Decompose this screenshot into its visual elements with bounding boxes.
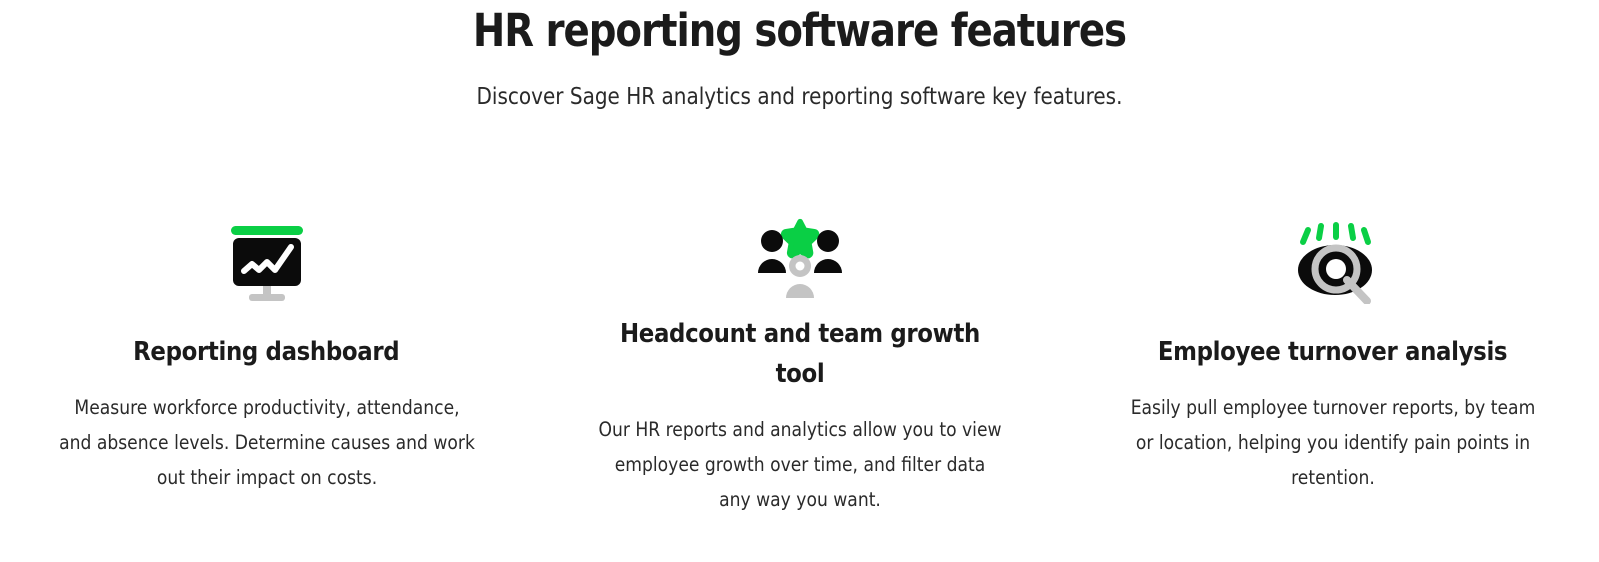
feature-card-employee-turnover-analysis: Employee turnover analysis Easily pull e…: [1066, 208, 1599, 495]
feature-icon-wrapper: [223, 208, 311, 304]
hr-reporting-features-section: HR reporting software features Discover …: [0, 0, 1599, 562]
feature-title: Reporting dashboard: [133, 332, 399, 372]
page-subtitle: Discover Sage HR analytics and reporting…: [104, 60, 1495, 112]
feature-title: Headcount and team growth tool: [606, 314, 993, 394]
section-header: HR reporting software features Discover …: [0, 0, 1599, 112]
feature-title: Employee turnover analysis: [1158, 332, 1507, 372]
feature-card-headcount-team-growth: Headcount and team growth tool Our HR re…: [533, 208, 1066, 517]
team-star-icon: [753, 210, 847, 302]
feature-icon-wrapper: [1285, 208, 1381, 304]
presentation-chart-icon: [223, 224, 311, 304]
page-title: HR reporting software features: [112, 2, 1487, 60]
feature-description: Our HR reports and analytics allow you t…: [597, 412, 1002, 517]
eye-magnifier-icon: [1285, 222, 1381, 304]
feature-card-reporting-dashboard: Reporting dashboard Measure workforce pr…: [0, 208, 533, 495]
feature-list: Reporting dashboard Measure workforce pr…: [0, 208, 1599, 517]
feature-description: Easily pull employee turnover reports, b…: [1121, 390, 1543, 495]
feature-description: Measure workforce productivity, attendan…: [55, 390, 477, 495]
feature-icon-wrapper: [753, 208, 847, 304]
